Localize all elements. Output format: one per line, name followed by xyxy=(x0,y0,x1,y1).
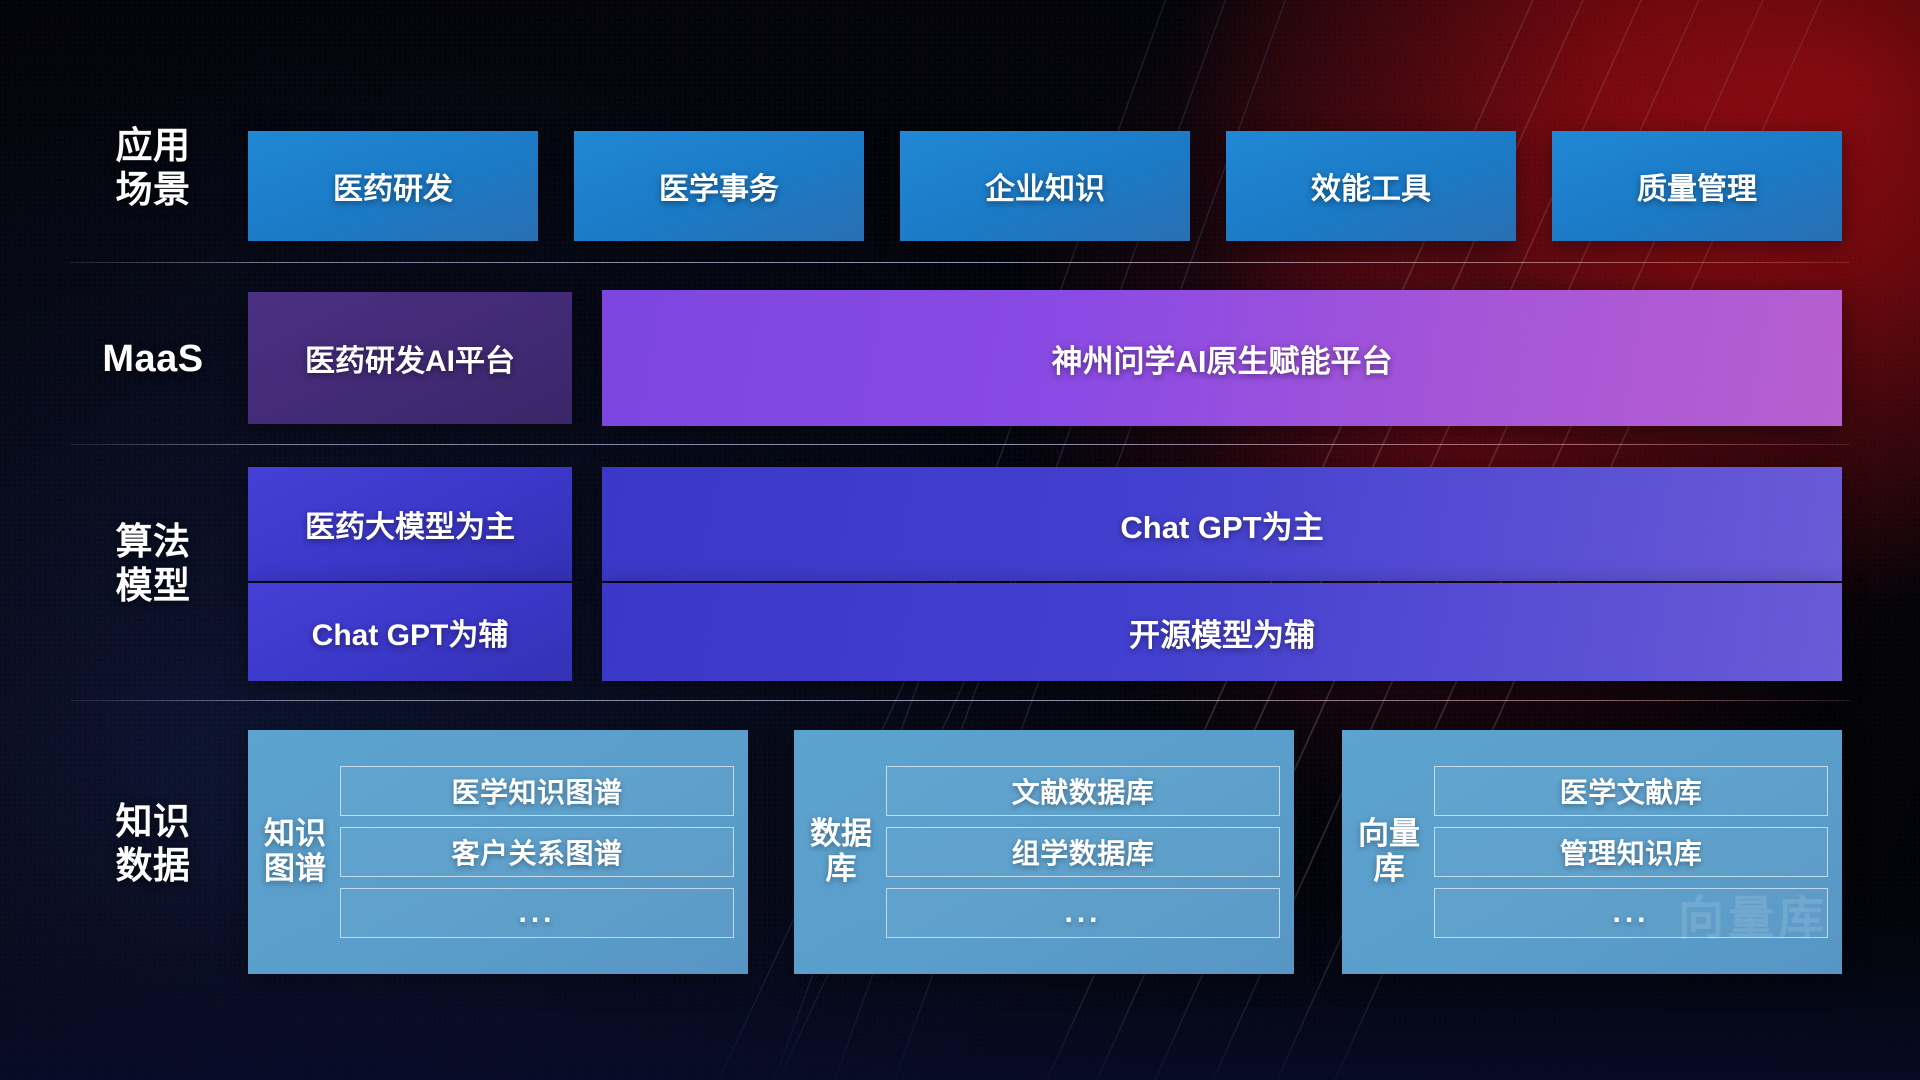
knowledge-panel-title-vector-store: 向量库 xyxy=(1352,817,1426,886)
architecture-diagram: 应用 场景 医药研发 医学事务 企业知识 效能工具 质量管理 MaaS 医药研发… xyxy=(0,0,1920,1080)
knowledge-panel-vector-store[interactable]: 向量库 向量库 医学文献库 管理知识库 ... xyxy=(1342,730,1842,974)
row-label-knowledge-line2: 数据 xyxy=(78,844,228,888)
app-box-drug-rnd[interactable]: 医药研发 xyxy=(248,131,538,241)
knowledge-item-management-knowledge-store[interactable]: 管理知识库 xyxy=(1434,827,1828,877)
row-label-application-line1: 应用 xyxy=(78,124,228,168)
algo-box-opensource-secondary[interactable]: 开源模型为辅 xyxy=(602,583,1842,681)
knowledge-item-medical-literature-store[interactable]: 医学文献库 xyxy=(1434,766,1828,816)
knowledge-item-medical-knowledge-graph[interactable]: 医学知识图谱 xyxy=(340,766,734,816)
algo-box-pharma-llm-primary[interactable]: 医药大模型为主 xyxy=(248,467,572,581)
algo-box-chatgpt-primary[interactable]: Chat GPT为主 xyxy=(602,467,1842,581)
knowledge-item-literature-database[interactable]: 文献数据库 xyxy=(886,766,1280,816)
row-label-knowledge-line1: 知识 xyxy=(78,800,228,844)
app-box-quality-management[interactable]: 质量管理 xyxy=(1552,131,1842,241)
algo-box-chatgpt-secondary[interactable]: Chat GPT为辅 xyxy=(248,583,572,681)
app-box-medical-affairs[interactable]: 医学事务 xyxy=(574,131,864,241)
knowledge-item-customer-relation-graph[interactable]: 客户关系图谱 xyxy=(340,827,734,877)
knowledge-item-more-database[interactable]: ... xyxy=(886,888,1280,938)
divider-maas-algorithm xyxy=(70,444,1850,445)
app-box-enterprise-knowledge[interactable]: 企业知识 xyxy=(900,131,1190,241)
knowledge-panel-database[interactable]: 数据库 文献数据库 组学数据库 ... xyxy=(794,730,1294,974)
knowledge-panel-title-database: 数据库 xyxy=(804,817,878,886)
row-label-algorithm-line2: 模型 xyxy=(78,564,228,608)
knowledge-item-omics-database[interactable]: 组学数据库 xyxy=(886,827,1280,877)
knowledge-item-more-vector[interactable]: ... xyxy=(1434,888,1828,938)
row-label-application: 应用 场景 xyxy=(78,124,228,211)
maas-box-shenzhou-wenxue-platform[interactable]: 神州问学AI原生赋能平台 xyxy=(602,290,1842,426)
knowledge-panel-title-knowledge-graph: 知识图谱 xyxy=(258,817,332,886)
row-label-application-line2: 场景 xyxy=(78,168,228,212)
divider-application-maas xyxy=(70,262,1850,263)
app-box-efficiency-tools[interactable]: 效能工具 xyxy=(1226,131,1516,241)
maas-box-drug-rnd-ai-platform[interactable]: 医药研发AI平台 xyxy=(248,292,572,424)
knowledge-item-more-graph[interactable]: ... xyxy=(340,888,734,938)
row-label-algorithm-line1: 算法 xyxy=(78,520,228,564)
row-label-maas: MaaS xyxy=(78,337,228,382)
divider-algorithm-knowledge xyxy=(70,700,1850,701)
row-label-algorithm: 算法 模型 xyxy=(78,520,228,607)
knowledge-panel-knowledge-graph[interactable]: 知识图谱 医学知识图谱 客户关系图谱 ... xyxy=(248,730,748,974)
row-label-knowledge: 知识 数据 xyxy=(78,800,228,887)
